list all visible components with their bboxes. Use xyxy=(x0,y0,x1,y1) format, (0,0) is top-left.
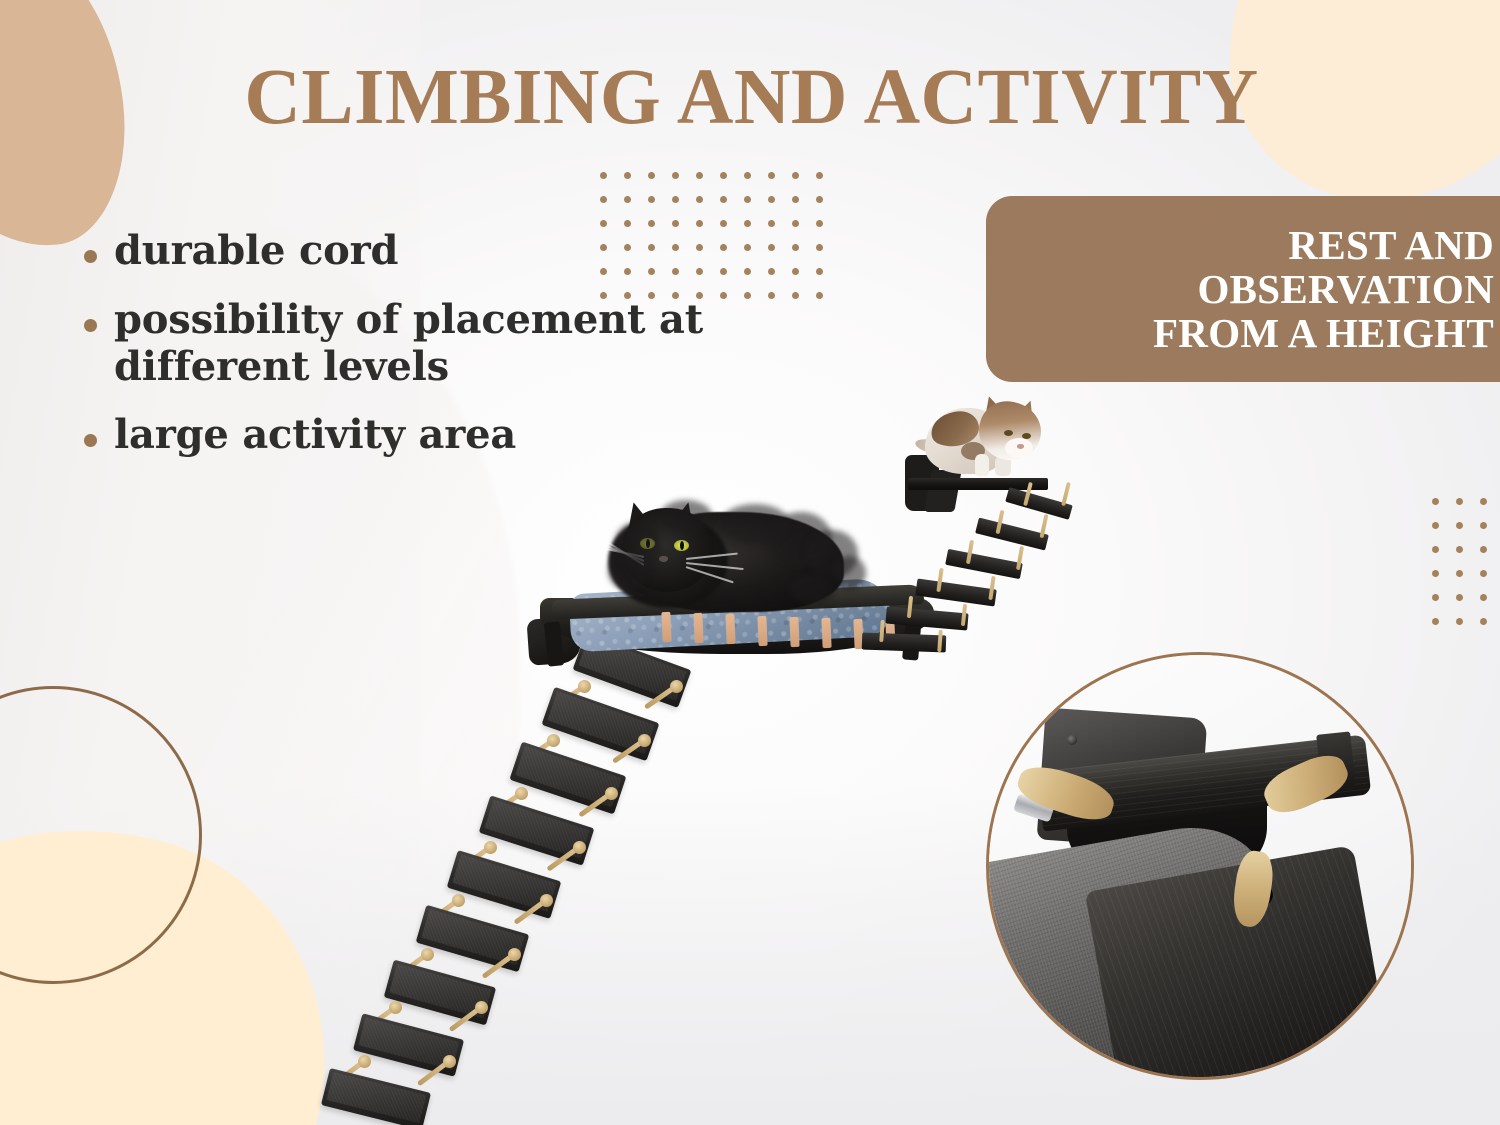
rope-ladder-upper xyxy=(858,488,1068,678)
ladder-rope-knot xyxy=(358,1055,371,1068)
ladder-step xyxy=(510,741,627,813)
feature-item-label: possibility of placement at different le… xyxy=(114,297,824,391)
feature-item-label: large activity area xyxy=(114,412,516,459)
decorative-dot xyxy=(768,172,775,179)
feature-list: durable cordpossibility of placement at … xyxy=(84,228,824,481)
ladder-rope-knot xyxy=(573,841,586,854)
ladder-rope-knot xyxy=(508,948,521,961)
ladder-rope-knot xyxy=(605,787,618,800)
ladder-step xyxy=(541,687,659,761)
black-cat-fur-tuft xyxy=(790,574,836,604)
decorative-dot xyxy=(648,220,655,227)
black-cat xyxy=(600,494,860,624)
ladder-step xyxy=(478,796,594,867)
tabby-cat-nose xyxy=(1017,444,1024,449)
decorative-dot xyxy=(720,220,727,227)
tabby-cat-eye-right xyxy=(1022,433,1031,439)
badge-line-3: FROM A HEIGHT xyxy=(1153,311,1494,355)
decorative-dot xyxy=(1432,594,1439,601)
decorative-dot xyxy=(1456,522,1463,529)
decorative-dot xyxy=(792,196,799,203)
ladder-step xyxy=(975,518,1049,551)
decorative-dot xyxy=(672,196,679,203)
badge-line-1: REST AND xyxy=(1288,223,1494,267)
decorative-dot xyxy=(816,220,823,227)
ladder-step xyxy=(321,1068,431,1125)
decorative-dot xyxy=(1480,570,1487,577)
dot-grid-right xyxy=(1432,498,1494,632)
ladder-rope-knot xyxy=(670,680,683,693)
decorative-dot xyxy=(744,196,751,203)
black-cat-fur-tuft xyxy=(608,552,648,590)
tabby-cat-leg-front xyxy=(975,454,989,476)
decorative-dot xyxy=(1432,618,1439,625)
page-title: CLIMBING AND ACTIVITY xyxy=(212,58,1291,137)
decorative-dot xyxy=(744,220,751,227)
decorative-dot xyxy=(1456,546,1463,553)
decorative-dot xyxy=(1432,498,1439,505)
ladder-rope-knot xyxy=(540,894,553,907)
decorative-dot xyxy=(624,172,631,179)
ladder-step xyxy=(862,633,947,653)
decorative-dot xyxy=(816,196,823,203)
decorative-dot xyxy=(600,220,607,227)
ladder-rope-knot xyxy=(421,948,434,961)
decorative-dot xyxy=(768,196,775,203)
decorative-dot xyxy=(672,172,679,179)
tabby-cat-eye-left xyxy=(1004,430,1013,436)
ladder-step xyxy=(415,905,529,972)
decorative-dot xyxy=(1432,522,1439,529)
decorative-dot xyxy=(1456,498,1463,505)
ladder-rope-knot xyxy=(515,787,528,800)
black-cat-fur-tuft xyxy=(720,504,790,544)
feature-item: possibility of placement at different le… xyxy=(84,297,824,391)
ladder-step xyxy=(447,850,562,919)
ladder-rope-knot xyxy=(547,734,560,747)
decorative-dot xyxy=(1480,618,1487,625)
ladder-step xyxy=(352,1014,463,1078)
ladder-rope-knot xyxy=(475,1001,488,1014)
decorative-dot xyxy=(1480,522,1487,529)
decorative-dot xyxy=(696,220,703,227)
decorative-dot xyxy=(600,172,607,179)
poster-canvas: CLIMBING AND ACTIVITY durable cordpossib… xyxy=(0,0,1500,1125)
ladder-rope-knot xyxy=(389,1001,402,1014)
decorative-dot xyxy=(624,196,631,203)
decorative-dot xyxy=(1456,570,1463,577)
feature-item: durable cord xyxy=(84,228,824,275)
decorative-dot xyxy=(792,172,799,179)
feature-item-label: durable cord xyxy=(114,228,398,275)
decorative-dot xyxy=(720,172,727,179)
decorative-dot xyxy=(648,172,655,179)
decorative-dot xyxy=(600,196,607,203)
decorative-dot xyxy=(624,220,631,227)
decorative-dot xyxy=(696,172,703,179)
ladder-rope-knot xyxy=(638,734,651,747)
bullet-dot-icon xyxy=(84,319,97,332)
detail-inset-photo xyxy=(986,652,1414,1080)
decorative-dot xyxy=(744,172,751,179)
inset-screw xyxy=(1067,735,1077,745)
black-cat-pupil-right xyxy=(680,541,684,550)
decorative-dot xyxy=(792,220,799,227)
ladder-rope-knot xyxy=(578,680,591,693)
decorative-dot xyxy=(816,172,823,179)
feature-item: large activity area xyxy=(84,412,824,459)
ladder-rope-knot xyxy=(443,1055,456,1068)
ladder-step xyxy=(945,549,1023,579)
bullet-dot-icon xyxy=(84,434,97,447)
decorative-dot xyxy=(672,220,679,227)
rope-ladder-lower xyxy=(300,630,720,1125)
decorative-dot xyxy=(1480,594,1487,601)
decorative-dot xyxy=(1480,546,1487,553)
ladder-step xyxy=(384,959,496,1024)
rest-observation-badge: REST AND OBSERVATION FROM A HEIGHT xyxy=(986,196,1500,382)
ladder-rope-knot xyxy=(452,894,465,907)
decorative-dot xyxy=(696,196,703,203)
ladder-rope-segment xyxy=(1016,546,1024,570)
tabby-cat xyxy=(921,386,1049,482)
ladder-rope-knot xyxy=(484,841,497,854)
ladder-step xyxy=(885,606,968,630)
decorative-dot xyxy=(1480,498,1487,505)
decorative-dot xyxy=(1432,570,1439,577)
black-cat-nose xyxy=(659,556,668,562)
decorative-dot xyxy=(1456,594,1463,601)
black-cat-fur-tuft xyxy=(660,500,712,532)
decorative-dot xyxy=(1456,618,1463,625)
decorative-dot xyxy=(720,196,727,203)
ladder-step xyxy=(915,579,997,607)
bullet-dot-icon xyxy=(84,250,97,263)
decorative-dot xyxy=(768,220,775,227)
badge-line-2: OBSERVATION xyxy=(1197,267,1494,311)
decorative-dot xyxy=(1432,546,1439,553)
decorative-dot xyxy=(648,196,655,203)
